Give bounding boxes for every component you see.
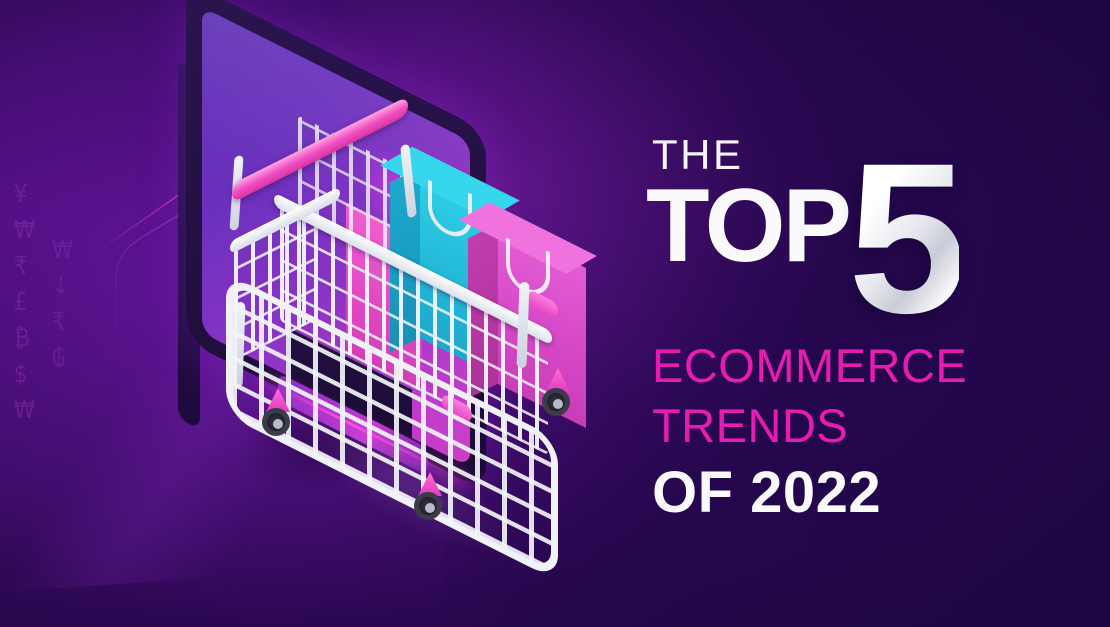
headline-top-row: TOP 5 (652, 176, 1072, 284)
currency-glyph: ₿ (14, 320, 35, 356)
headline-top: TOP (646, 172, 849, 280)
currency-glyph: ₲ (52, 340, 73, 376)
currency-glyph: ₩ (52, 232, 73, 268)
currency-glyph: ¥ (14, 176, 35, 212)
currency-glyph: ₩ (14, 212, 35, 248)
currency-glyph-column-inner: ₩ ↓ ₹ ₲ (52, 232, 73, 376)
headline-of-year: OF 2022 (652, 462, 1072, 524)
currency-glyph: ₹ (52, 304, 73, 340)
cart-wheel (262, 400, 292, 430)
cart-wheel (542, 380, 572, 410)
wheel-tyre (262, 408, 290, 436)
hero-illustration (90, 38, 650, 598)
ecommerce-trends-banner: ¥ ₩ ₹ £ ₿ $ ₩ ₩ ↓ ₹ ₲ (0, 0, 1110, 627)
wheel-tyre (414, 492, 442, 520)
headline-trends: TRENDS (652, 400, 1072, 452)
currency-glyph: ↓ (52, 268, 73, 304)
currency-glyph: ₹ (14, 248, 35, 284)
wheel-tyre (542, 388, 570, 416)
shopping-cart (218, 126, 648, 586)
currency-glyph: ₩ (14, 392, 35, 428)
cart-wheel (414, 484, 444, 514)
headline-number-five: 5 (848, 132, 959, 346)
headline-block: THE TOP 5 ECOMMERCE TRENDS OF 2022 (652, 132, 1072, 524)
basket-rim-cap (528, 288, 558, 319)
currency-glyph: £ (14, 284, 35, 320)
currency-glyph-column-left: ¥ ₩ ₹ £ ₿ $ ₩ (14, 176, 35, 428)
currency-glyph: $ (14, 356, 35, 392)
